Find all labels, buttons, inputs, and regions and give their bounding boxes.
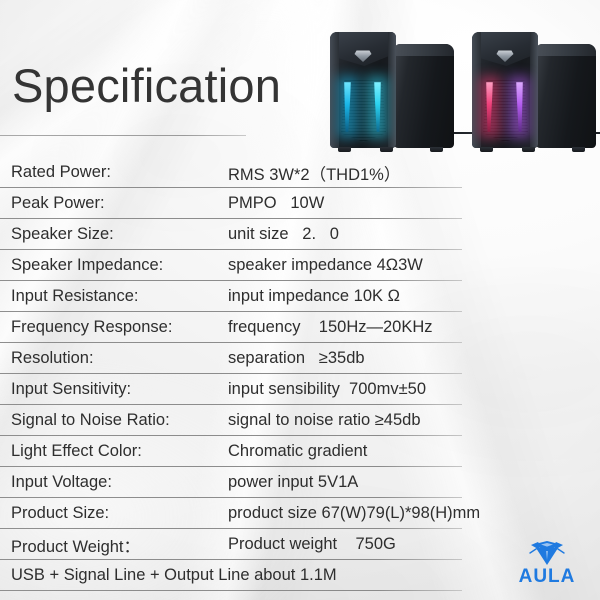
spec-value: speaker impedance 4Ω3W (228, 256, 423, 275)
spec-label: Input Voltage: (0, 473, 228, 492)
spec-value: power input 5V1A (228, 473, 358, 492)
speaker-cabinet-left (394, 44, 454, 148)
table-row: Input Resistance: input impedance 10K Ω (0, 281, 600, 312)
table-row: Input Sensitivity: input sensibility 700… (0, 374, 600, 405)
table-row: Peak Power: PMPO 10W (0, 188, 600, 219)
spec-label: Signal to Noise Ratio: (0, 411, 228, 430)
spec-value: frequency 150Hz—20KHz (228, 318, 433, 337)
spec-value: Product weight 750G (228, 535, 396, 554)
specification-table: Rated Power: RMS 3W*2（THD1%） Peak Power:… (0, 157, 600, 591)
spec-label: Product Weight： (0, 533, 228, 557)
speaker-brand-emblem-icon (497, 49, 514, 62)
speaker-bevel-right-edge (388, 32, 396, 148)
title-divider (0, 135, 246, 136)
spider-emblem-icon (527, 540, 567, 566)
spec-label: Frequency Response: (0, 318, 228, 337)
product-photo (326, 0, 600, 152)
spec-value: input sensibility 700mv±50 (228, 380, 426, 399)
speaker-foot-left-2 (380, 147, 393, 152)
table-row: Input Voltage: power input 5V1A (0, 467, 600, 498)
spec-label: Product Size: (0, 504, 228, 523)
spec-label: Resolution: (0, 349, 228, 368)
table-row: Frequency Response: frequency 150Hz—20KH… (0, 312, 600, 343)
table-row: Light Effect Color: Chromatic gradient (0, 436, 600, 467)
spec-value: RMS 3W*2（THD1%） (228, 161, 400, 185)
table-row: Speaker Size: unit size 2. 0 (0, 219, 600, 250)
spec-value: PMPO 10W (228, 194, 324, 213)
spec-value: separation ≥35db (228, 349, 365, 368)
spec-cable-text: USB + Signal Line + Output Line about 1.… (0, 566, 337, 585)
spec-label: Speaker Impedance: (0, 256, 228, 275)
speaker-foot-left-1 (338, 147, 351, 152)
speaker-front-left (330, 32, 396, 148)
speaker-brand-emblem-icon (355, 49, 372, 62)
table-row: Signal to Noise Ratio: signal to noise r… (0, 405, 600, 436)
speaker-cabinet-right (536, 44, 596, 148)
speaker-cabinet-top-right (536, 44, 596, 56)
speaker-foot-right-3 (572, 147, 585, 152)
speaker-bevel-right-right-edge (530, 32, 538, 148)
spec-value: unit size 2. 0 (228, 225, 339, 244)
speaker-foot-right-1 (480, 147, 493, 152)
speaker-foot-right-2 (522, 147, 535, 152)
table-row: Resolution: separation ≥35db (0, 343, 600, 374)
spec-value: input impedance 10K Ω (228, 287, 400, 306)
spec-label: Input Resistance: (0, 287, 228, 306)
speaker-foot-left-3 (430, 147, 443, 152)
spec-label: Speaker Size: (0, 225, 228, 244)
page-title: Specification (12, 62, 281, 109)
gaming-speaker-right (472, 26, 596, 148)
table-row: Speaker Impedance: speaker impedance 4Ω3… (0, 250, 600, 281)
spec-label: Peak Power: (0, 194, 228, 213)
gaming-speaker-left (330, 26, 454, 148)
spec-value: signal to noise ratio ≥45db (228, 411, 421, 430)
speaker-cabinet-top-left (394, 44, 454, 56)
brand-wordmark: AULA (508, 567, 586, 586)
table-row: Rated Power: RMS 3W*2（THD1%） (0, 157, 600, 188)
spec-label: Rated Power: (0, 163, 228, 182)
spec-label: Input Sensitivity: (0, 380, 228, 399)
brand-logo: AULA (508, 540, 586, 586)
spec-value: product size 67(W)79(L)*98(H)mm (228, 504, 480, 523)
spec-value: Chromatic gradient (228, 442, 367, 461)
table-row: Product Size: product size 67(W)79(L)*98… (0, 498, 600, 529)
spec-label: Light Effect Color: (0, 442, 228, 461)
speaker-front-right (472, 32, 538, 148)
specification-page: Specification Rated Power: RMS 3W*2（THD1… (0, 0, 600, 600)
